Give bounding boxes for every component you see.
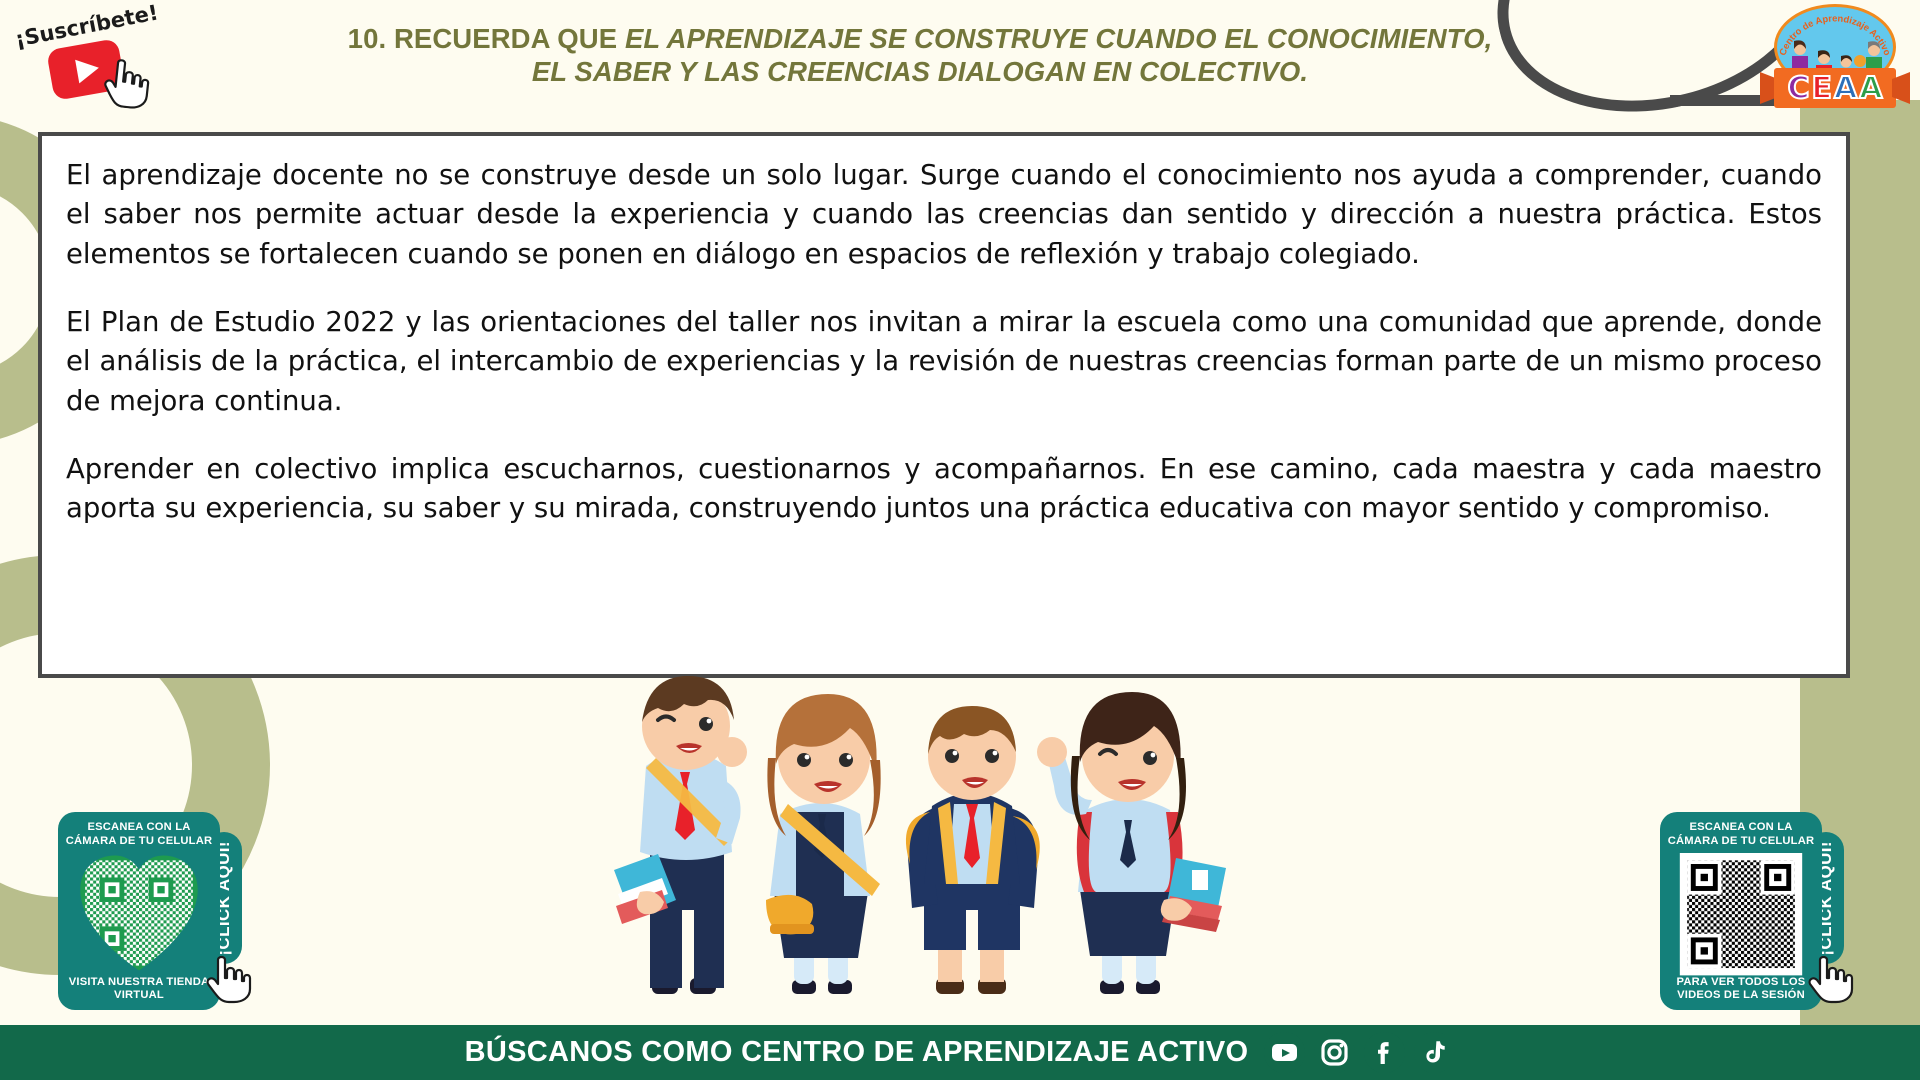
slide-canvas: ¡Suscríbete! 10. RECUERDA QUE EL APRENDI…: [0, 0, 1920, 1080]
content-text-box: El aprendizaje docente no se construye d…: [38, 132, 1850, 678]
page-title: 10. RECUERDA QUE EL APRENDIZAJE SE CONST…: [330, 22, 1510, 88]
qr-top-text-right: ESCANEA CON LA CÁMARA DE TU CELULAR: [1666, 821, 1816, 848]
qr-badge-videos[interactable]: ¡CLICK AQUÍ! ESCANEA CON LA CÁMARA DE TU…: [1660, 812, 1838, 1017]
qr-bottom-text-left: VISITA NUESTRA TIENDA VIRTUAL: [64, 976, 214, 1003]
student-boy-backpack: [906, 706, 1040, 994]
student-girl-satchel: [766, 694, 881, 994]
qr-bottom-text-right: PARA VER TODOS LOS VIDEOS DE LA SESIÓN: [1666, 976, 1816, 1003]
student-boy-waving: [614, 676, 747, 994]
subscribe-badge[interactable]: ¡Suscríbete!: [8, 6, 158, 110]
logo-ribbon: CEAA: [1760, 68, 1910, 108]
ceaa-logo: Centro de Aprendizaje Activo CEAA: [1756, 2, 1914, 112]
paragraph-2: El Plan de Estudio 2022 y las orientacio…: [66, 303, 1822, 421]
qr-badge-tienda[interactable]: ¡CLICK AQUÍ! ESCANEA CON LA CÁMARA DE TU…: [58, 812, 236, 1017]
qr-code-square-icon[interactable]: [1676, 853, 1806, 975]
qr-card-left[interactable]: ESCANEA CON LA CÁMARA DE TU CELULAR: [58, 812, 220, 1010]
logo-letter-c: C: [1788, 71, 1810, 106]
qr-top-text-left: ESCANEA CON LA CÁMARA DE TU CELULAR: [64, 821, 214, 848]
students-illustration: [580, 648, 1340, 1038]
youtube-icon[interactable]: [1264, 1032, 1305, 1073]
hand-cursor-icon-left: [204, 952, 256, 1004]
footer-bar: BÚSCANOS COMO CENTRO DE APRENDIZAJE ACTI…: [0, 1025, 1920, 1080]
logo-letters: CEAA: [1774, 68, 1896, 108]
hand-cursor-icon: [102, 56, 153, 111]
instagram-icon[interactable]: [1314, 1032, 1355, 1073]
social-links: [1264, 1032, 1455, 1073]
paragraph-1: El aprendizaje docente no se construye d…: [66, 156, 1822, 274]
logo-letter-a2: A: [1859, 71, 1882, 106]
facebook-icon[interactable]: [1364, 1032, 1405, 1073]
title-emphasis: EL APRENDIZAJE SE CONSTRUYE CUANDO EL CO…: [532, 23, 1492, 87]
student-girl-waving: [1037, 692, 1226, 994]
logo-letter-a1: A: [1834, 71, 1857, 106]
footer-text: BÚSCANOS COMO CENTRO DE APRENDIZAJE ACTI…: [465, 1036, 1249, 1069]
logo-letter-e: E: [1812, 71, 1833, 106]
title-prefix: 10. RECUERDA QUE: [348, 23, 625, 54]
hand-cursor-icon-right: [1806, 952, 1858, 1004]
qr-code-heart-icon[interactable]: [74, 853, 204, 975]
paragraph-3: Aprender en colectivo implica escucharno…: [66, 450, 1822, 529]
tiktok-icon[interactable]: [1414, 1032, 1455, 1073]
qr-card-right[interactable]: ESCANEA CON LA CÁMARA DE TU CELULAR: [1660, 812, 1822, 1010]
